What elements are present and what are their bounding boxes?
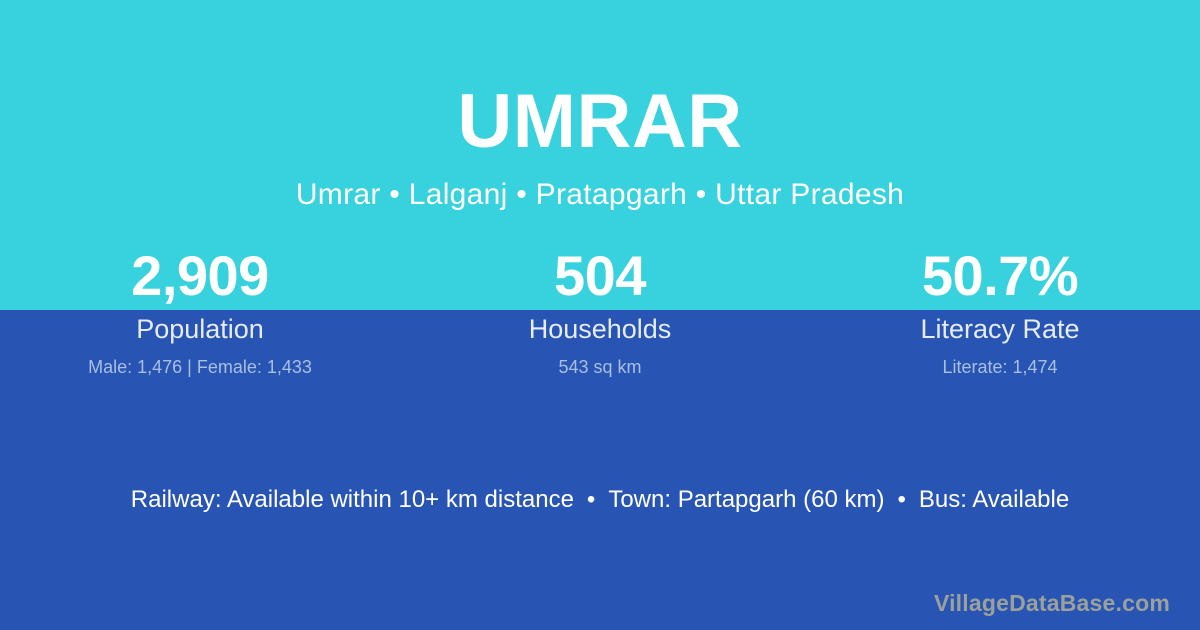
stats-row: 2,909 Population Male: 1,476 | Female: 1…	[0, 242, 1200, 379]
stat-label: Literacy Rate	[800, 310, 1200, 346]
stat-households: 504 Households 543 sq km	[400, 242, 800, 379]
infrastructure-town: Town: Partapgarh (60 km)	[608, 486, 884, 513]
stat-sublabel: Literate: 1,474	[800, 346, 1200, 379]
site-brand-watermark: VillageDataBase.com	[934, 589, 1170, 617]
stat-value: 50.7%	[800, 242, 1200, 310]
stat-value: 504	[400, 242, 800, 310]
breadcrumb: Umrar • Lalganj • Pratapgarh • Uttar Pra…	[0, 160, 1200, 212]
stat-population: 2,909 Population Male: 1,476 | Female: 1…	[0, 242, 400, 379]
infrastructure-bus: Bus: Available	[919, 486, 1069, 513]
stat-literacy-rate: 50.7% Literacy Rate Literate: 1,474	[800, 242, 1200, 379]
bullet-separator-icon: •	[884, 486, 918, 513]
stat-sublabel: Male: 1,476 | Female: 1,433	[0, 346, 400, 379]
stat-sublabel: 543 sq km	[400, 346, 800, 379]
card-header: UMRAR Umrar • Lalganj • Pratapgarh • Utt…	[0, 0, 1200, 212]
stat-label: Households	[400, 310, 800, 346]
stat-label: Population	[0, 310, 400, 346]
bullet-separator-icon: •	[574, 486, 608, 513]
village-info-card: UMRAR Umrar • Lalganj • Pratapgarh • Utt…	[0, 0, 1200, 630]
page-title: UMRAR	[0, 0, 1200, 160]
infrastructure-row: Railway: Available within 10+ km distanc…	[0, 483, 1200, 516]
infrastructure-railway: Railway: Available within 10+ km distanc…	[131, 486, 574, 513]
stat-value: 2,909	[0, 242, 400, 310]
